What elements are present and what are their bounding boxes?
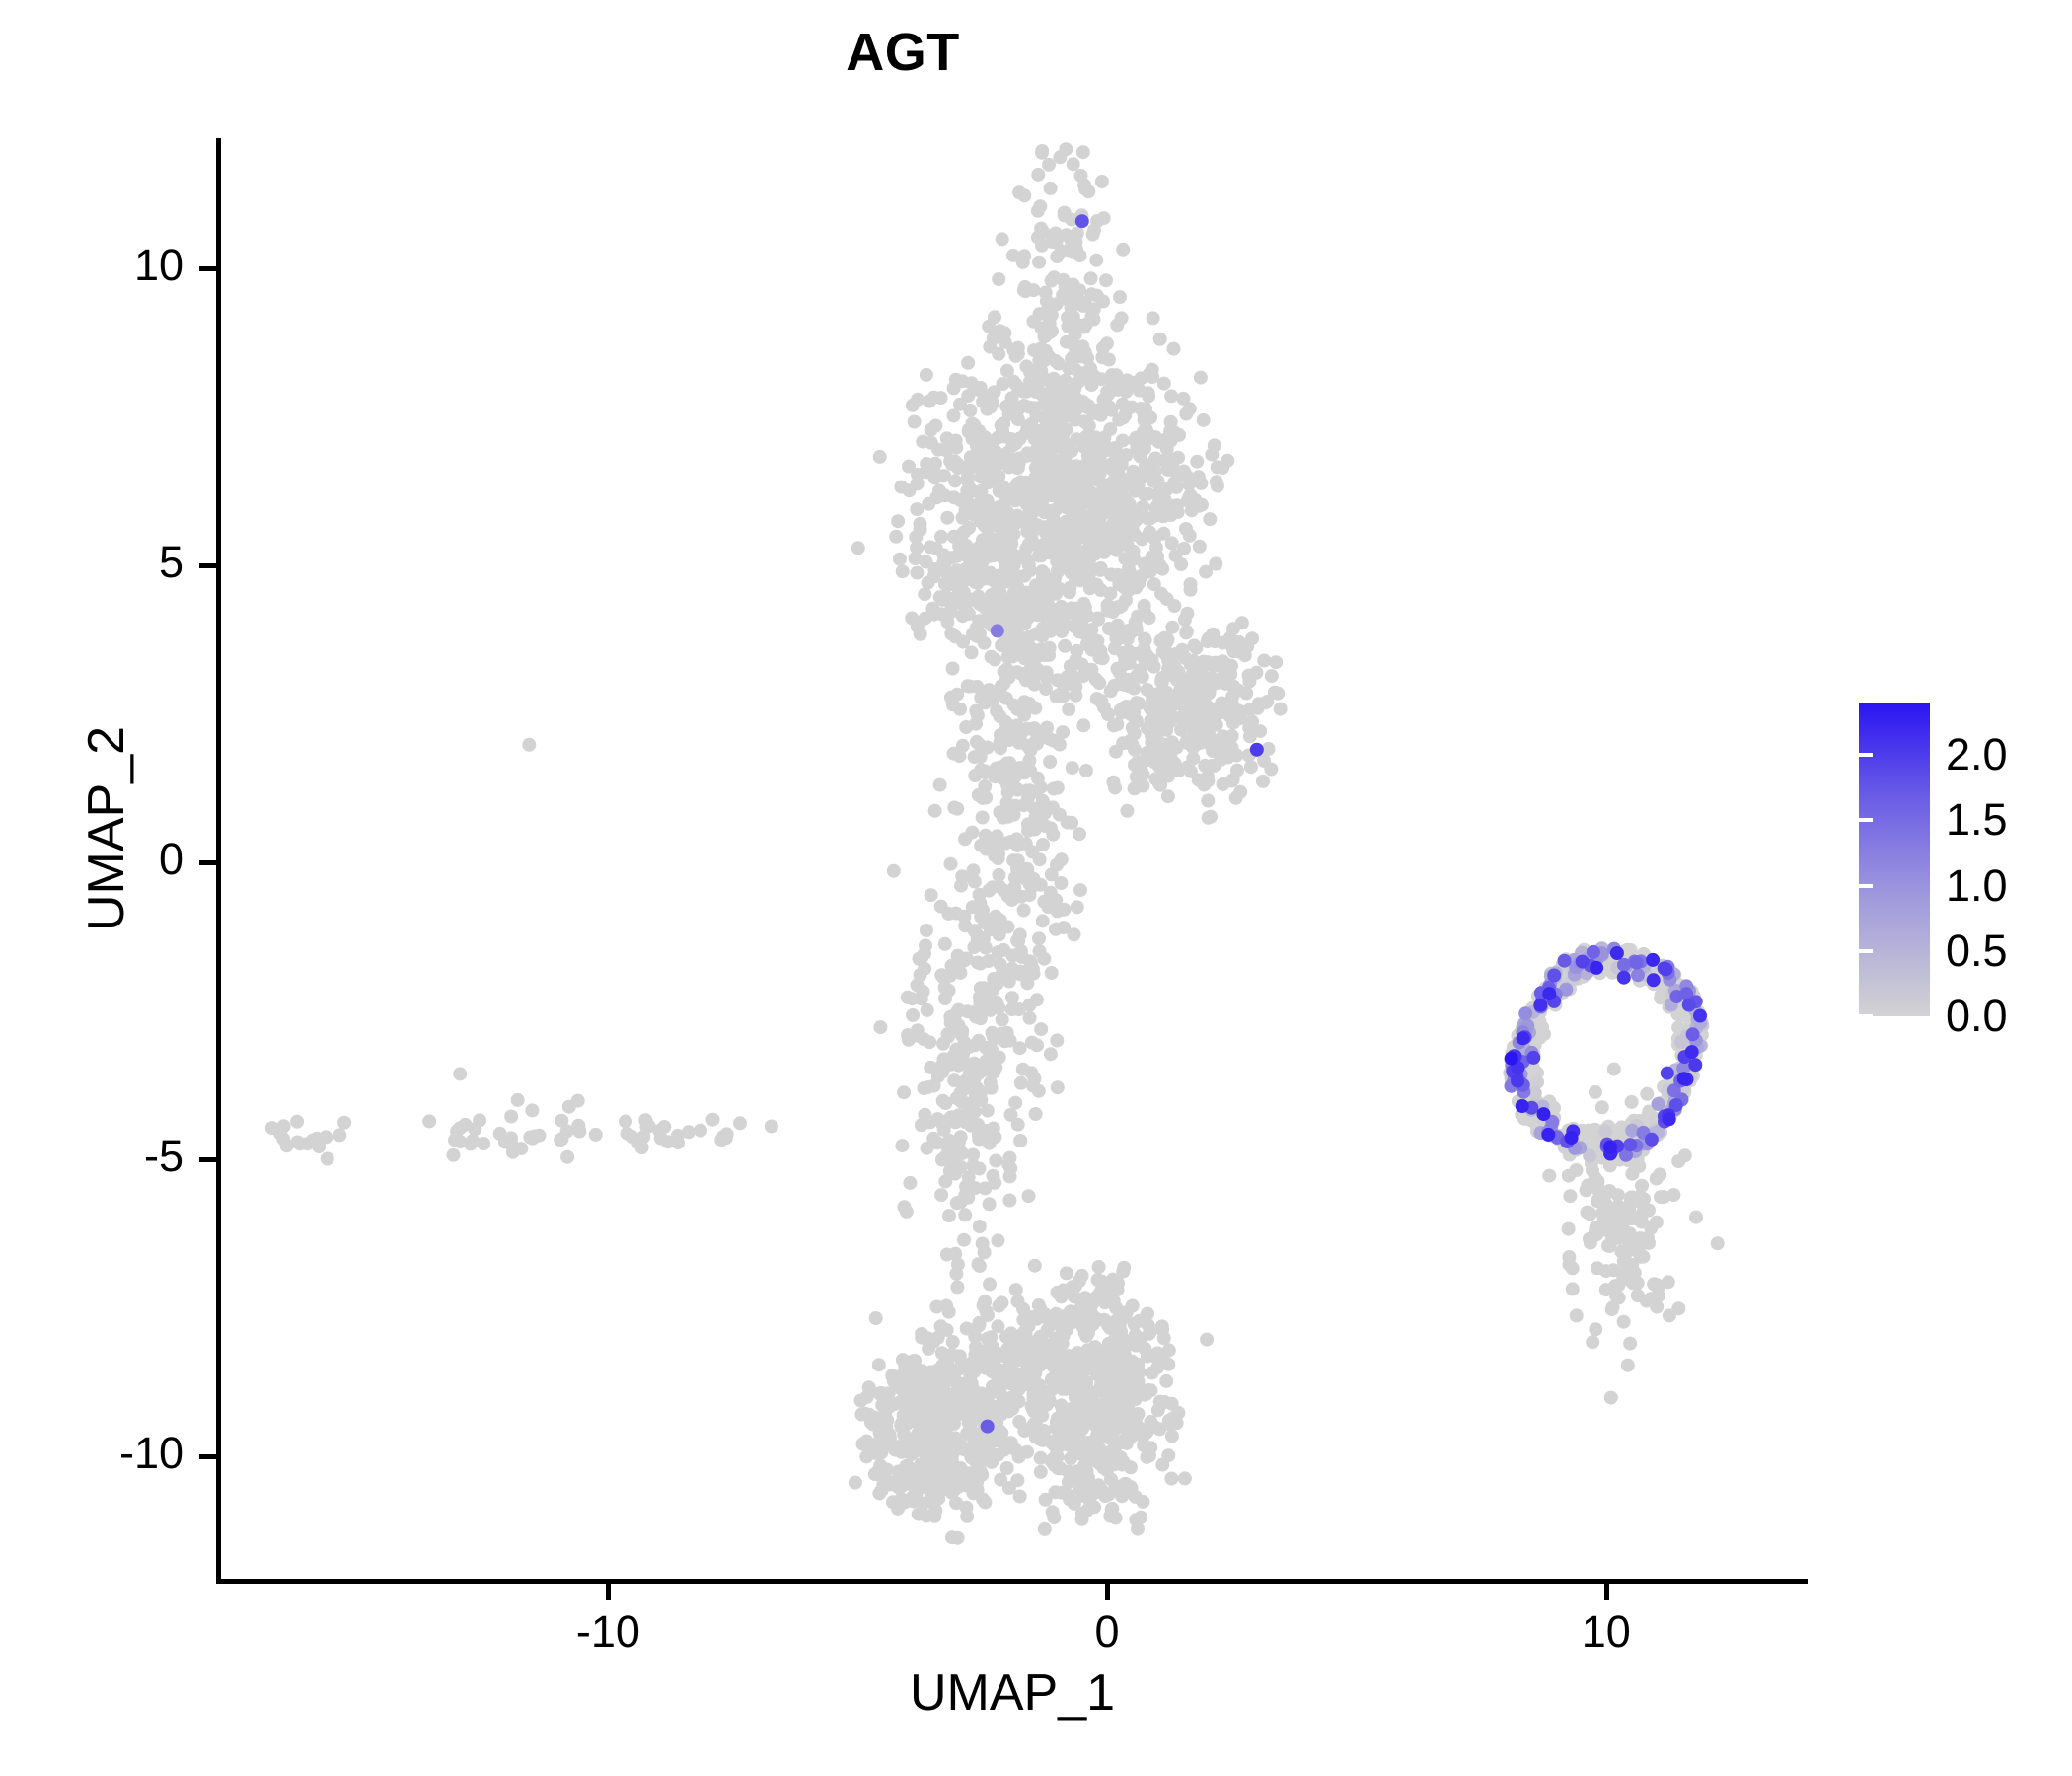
page-title: AGT [0,22,1806,83]
x-tick-mark [1105,1584,1110,1600]
y-tick-label: 10 [0,240,184,291]
colorbar-tick-mark [2042,949,2056,953]
x-tick-mark [606,1584,611,1600]
colorbar-tick-label: 1.0 [1946,860,2008,912]
y-tick-label: -10 [0,1428,184,1479]
colorbar [1859,703,1930,1016]
y-tick-mark [199,266,216,271]
plot-panel [219,138,1806,1581]
colorbar-tick-mark [1859,884,1873,888]
colorbar-gradient [1859,703,1930,1016]
scatter-points-layer [219,138,1806,1581]
umap-feature-plot: AGT -10-50510-10010 UMAP_1 UMAP_2 0.00.5… [0,0,2072,1776]
colorbar-tick-mark [1859,818,1873,822]
colorbar-tick-mark [2042,753,2056,757]
colorbar-tick-label: 2.0 [1946,729,2008,780]
colorbar-tick-mark [1859,1014,1873,1018]
y-tick-mark [199,1157,216,1162]
colorbar-tick-label: 0.5 [1946,925,2008,977]
y-tick-mark [199,1454,216,1459]
colorbar-tick-mark [2042,818,2056,822]
colorbar-tick-label: 0.0 [1946,991,2008,1042]
colorbar-tick-mark [1859,949,1873,953]
colorbar-tick-mark [1859,753,1873,757]
x-tick-mark [1604,1584,1609,1600]
x-tick-label: -10 [509,1606,706,1658]
y-axis-line [216,138,221,1584]
y-axis-title: UMAP_2 [77,434,136,1223]
colorbar-legend: 0.00.51.01.52.0 [1859,703,2056,1028]
x-tick-label: 10 [1508,1606,1705,1658]
colorbar-tick-mark [2042,1014,2056,1018]
colorbar-tick-label: 1.5 [1946,794,2008,846]
x-axis-title: UMAP_1 [219,1664,1806,1723]
y-tick-mark [199,563,216,568]
x-axis-line [216,1579,1808,1584]
x-tick-label: 0 [1008,1606,1206,1658]
y-tick-mark [199,860,216,865]
colorbar-tick-mark [2042,884,2056,888]
